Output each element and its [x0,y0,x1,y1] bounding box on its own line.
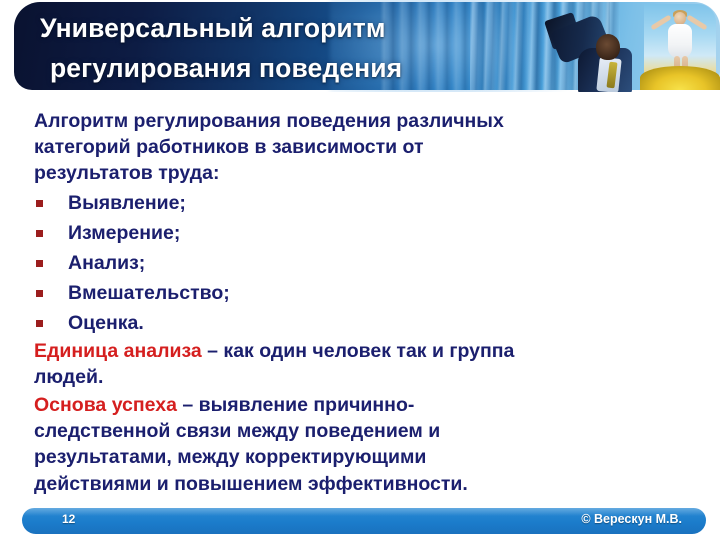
slide-title: Универсальный алгоритм регулирования пов… [40,8,560,88]
list-item: Оценка. [34,308,534,338]
paragraph2-line-3: результатами, между корректирующими [34,444,684,470]
success-basis-paragraph: Основа успеха – выявление причинно- след… [34,392,684,497]
page-number: 12 [62,512,75,526]
copyright-notice: © Верескун М.В. [581,512,682,526]
paragraph1-line-1-rest: – как один человек так и группа [202,340,515,362]
list-item: Выявление; [34,188,534,218]
list-item: Вмешательство; [34,278,534,308]
businessman-photo-icon [552,16,648,92]
square-bullet-icon [36,320,43,327]
slide: Универсальный алгоритм регулирования пов… [0,0,720,540]
paragraph1-line-2: людей. [34,364,684,390]
list-item: Измерение; [34,218,534,248]
algorithm-steps-list: Выявление; Измерение; Анализ; Вмешательс… [34,188,534,338]
list-item-label: Анализ; [68,252,145,274]
golden-mound-shape [640,66,720,90]
square-bullet-icon [36,290,43,297]
celebrating-woman-photo-icon [644,4,716,90]
intro-line-1: Алгоритм регулирования поведения различн… [34,108,674,134]
list-item: Анализ; [34,248,534,278]
dress-shape [668,24,692,58]
paragraph2-line-1-rest: – выявление причинно- [177,394,414,416]
paragraph1-accent-term: Единица анализа [34,340,202,362]
slide-header-banner: Универсальный алгоритм регулирования пов… [0,0,720,92]
paragraph2-line-1: Основа успеха – выявление причинно- [34,392,684,418]
slide-footer: 12 © Верескун М.В. [0,508,720,540]
square-bullet-icon [36,260,43,267]
intro-line-2: категорий работников в зависимости от [34,134,674,160]
intro-paragraph: Алгоритм регулирования поведения различн… [34,108,674,187]
square-bullet-icon [36,230,43,237]
title-line-1: Универсальный алгоритм [40,8,560,48]
slide-body: Алгоритм регулирования поведения различн… [0,92,720,508]
intro-line-3: результатов труда: [34,160,674,186]
paragraph2-line-2: следственной связи между поведением и [34,418,684,444]
list-item-label: Вмешательство; [68,282,230,304]
head-shape [596,34,620,60]
list-item-label: Выявление; [68,192,186,214]
unit-of-analysis-paragraph: Единица анализа – как один человек так и… [34,338,684,390]
paragraph2-accent-term: Основа успеха [34,394,177,416]
square-bullet-icon [36,200,43,207]
list-item-label: Измерение; [68,222,180,244]
paragraph2-line-4: действиями и повышением эффективности. [34,471,684,497]
list-item-label: Оценка. [68,312,144,334]
paragraph1-line-1: Единица анализа – как один человек так и… [34,338,684,364]
title-line-2: регулирования поведения [40,48,560,88]
